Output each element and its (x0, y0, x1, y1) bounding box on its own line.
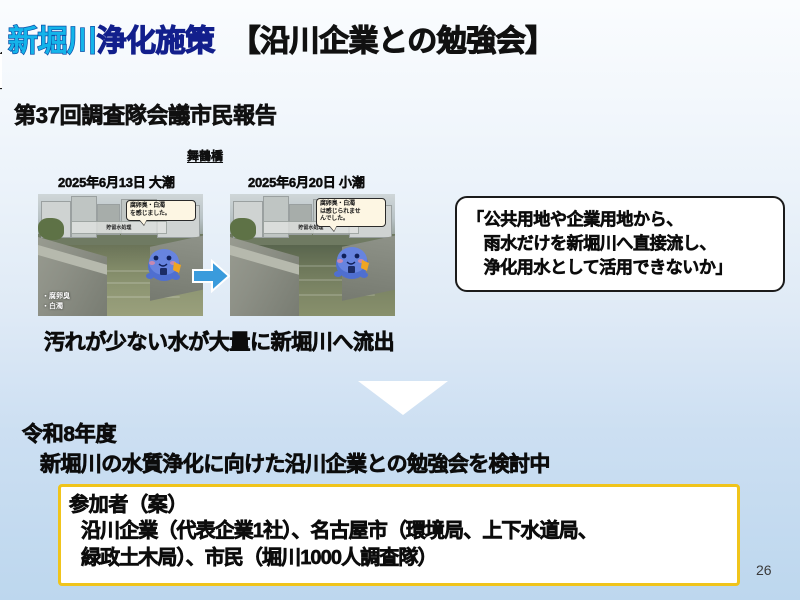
photo-banner-text: 貯留水処理 (71, 221, 167, 234)
photo-date-left: 2025年6月13日 大潮 (58, 172, 175, 191)
mascot-icon (330, 240, 374, 282)
plan-description: 新堀川の水質浄化に向けた沿川企業との勉強会を検討中 (40, 448, 550, 478)
river-photo-after: 貯留水処理 腐卵臭・白濁 は感じられませ んでした。 (230, 194, 395, 316)
mascot-speech-bubble-before: 腐卵臭・白濁 を感じました。 (126, 200, 196, 221)
participants-list: 沿川企業（代表企業1社）、名古屋市（環境局、上下水道局、 緑政土木局）、市民（堀… (69, 518, 729, 572)
page-number: 26 (756, 562, 772, 578)
callout-text: 「公共用地や企業用地から、 雨水だけを新堀川へ直接流し、 浄化用水として活用でき… (467, 208, 775, 280)
fiscal-year-label: 令和8年度 (22, 418, 116, 448)
mascot-speech-bubble-after: 腐卵臭・白濁 は感じられませ んでした。 (316, 198, 386, 227)
mascot-icon (142, 242, 186, 284)
title-part-policy: 浄化施策 (97, 27, 215, 57)
down-triangle-icon (358, 381, 448, 415)
photo-caption: 汚れが少ない水が大量に新堀川へ流出 (44, 326, 394, 356)
right-arrow-icon (192, 259, 230, 293)
bridge-name-label: 舞鶴橋 (187, 147, 223, 164)
slide-title: 新堀川 浄化施策 【沿川企業との勉強会】 (8, 18, 792, 66)
river-photo-before: 貯留水処理 腐卵臭・白濁 を感じました。 ・腐卵臭 ・白濁 (38, 194, 203, 316)
slide-canvas: 新堀川 浄化施策 【沿川企業との勉強会】 第37回調査隊会議市民報告 舞鶴橋 2… (0, 0, 800, 600)
photo-trees (230, 218, 256, 240)
photo-trees (38, 218, 64, 240)
participants-box: 参加者（案） 沿川企業（代表企業1社）、名古屋市（環境局、上下水道局、 緑政土木… (58, 484, 740, 586)
callout-balloon: 「公共用地や企業用地から、 雨水だけを新堀川へ直接流し、 浄化用水として活用でき… (455, 196, 785, 292)
title-part-river: 新堀川 (8, 27, 97, 57)
photo-observation-notes: ・腐卵臭 ・白濁 (42, 292, 70, 312)
callout-tail-icon (0, 52, 2, 92)
photo-date-right: 2025年6月20日 小潮 (248, 172, 365, 191)
participants-title: 参加者（案） (69, 492, 729, 518)
slide-subtitle: 第37回調査隊会議市民報告 (14, 98, 277, 130)
title-part-bracket: 【沿川企業との勉強会】 (231, 27, 555, 57)
